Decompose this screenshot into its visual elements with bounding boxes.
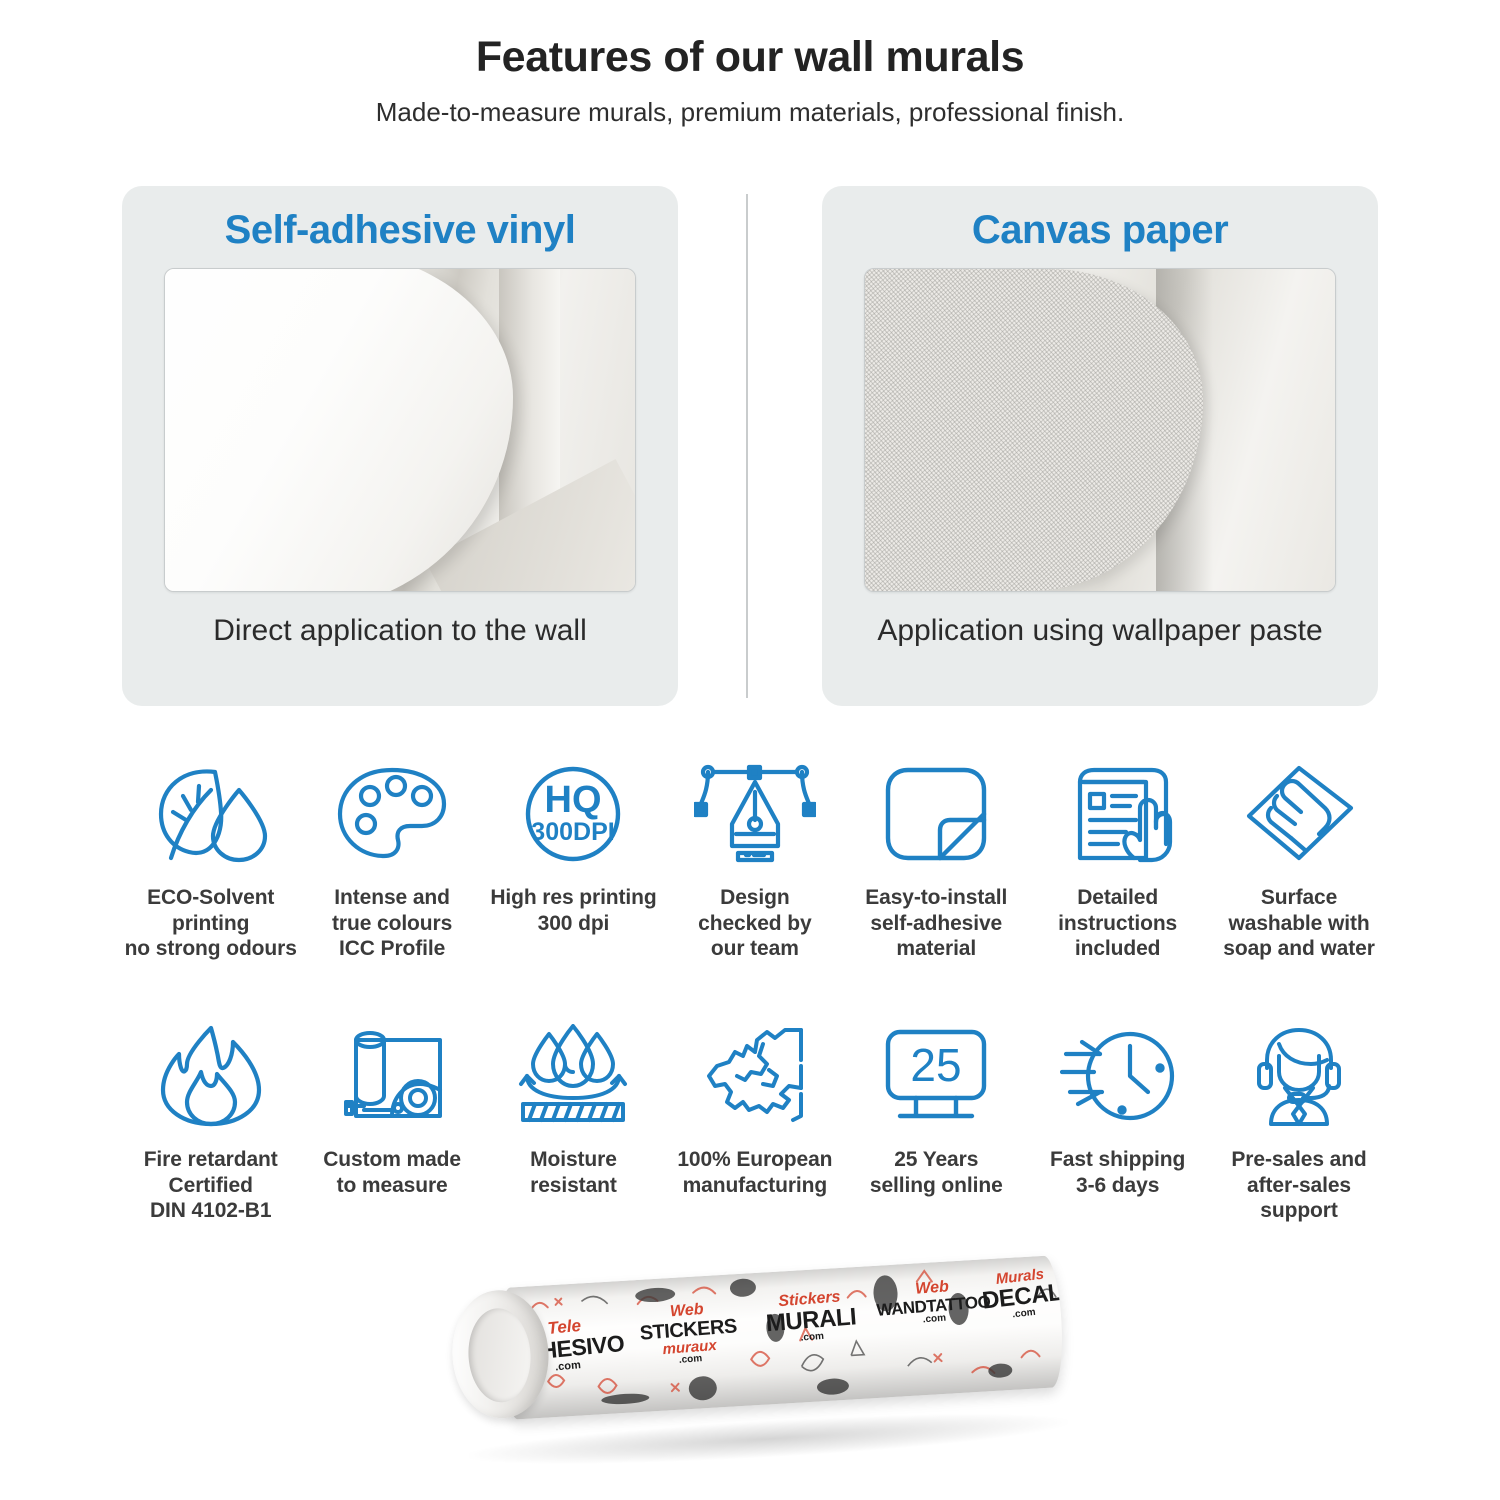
tube-graphic: Tele ADHESIVO .com Web STICKERS muraux .… xyxy=(449,1255,1066,1423)
panel-caption-canvas: Application using wallpaper paste xyxy=(877,612,1322,650)
panel-divider xyxy=(746,194,748,698)
flame-icon xyxy=(153,1017,269,1135)
brand-webstickersmuraux: Web STICKERS muraux .com xyxy=(625,1298,751,1369)
feature-25-years: 25 25 Years selling online xyxy=(846,1017,1027,1198)
brand-muralsdecal: Murals DECAL .com xyxy=(971,1264,1065,1324)
feature-easy-install: Easy-to-install self-adhesive material xyxy=(846,755,1027,962)
features-infographic-page: Features of our wall murals Made-to-meas… xyxy=(0,0,1500,1500)
hq-text: HQ xyxy=(545,779,602,821)
feature-moisture-resistant: Moisture resistant xyxy=(483,1017,664,1198)
monitor-25-icon: 25 xyxy=(878,1017,994,1135)
feature-label: Detailed instructions included xyxy=(1058,885,1177,962)
panel-canvas-paper: Canvas paper Application using wallpaper… xyxy=(822,186,1378,706)
feature-custom-made: Custom made to measure xyxy=(301,1017,482,1198)
feature-grid: ECO-Solvent printing no strong odours In… xyxy=(120,755,1390,1224)
roll-tape-measure-icon xyxy=(334,1017,450,1135)
panel-self-adhesive-vinyl: Self-adhesive vinyl Direct application t… xyxy=(122,186,678,706)
feature-washable: Surface washable with soap and water xyxy=(1208,755,1389,962)
feature-label: 25 Years selling online xyxy=(870,1147,1003,1198)
canvas-paper-photo xyxy=(864,268,1336,592)
europe-map-icon xyxy=(697,1017,813,1135)
feature-eco-solvent: ECO-Solvent printing no strong odours xyxy=(120,755,301,962)
paint-palette-icon xyxy=(334,755,450,873)
feature-label: ECO-Solvent printing no strong odours xyxy=(125,885,297,962)
page-header: Features of our wall murals Made-to-meas… xyxy=(0,0,1500,128)
feature-fire-retardant: Fire retardant Certified DIN 4102-B1 xyxy=(120,1017,301,1224)
years-number: 25 xyxy=(911,1039,962,1091)
feature-label: Custom made to measure xyxy=(323,1147,461,1198)
feature-label: Fast shipping 3-6 days xyxy=(1050,1147,1185,1198)
tube-body: Tele ADHESIVO .com Web STICKERS muraux .… xyxy=(497,1255,1066,1420)
hq-300dpi-badge-icon: HQ 300DPI xyxy=(515,755,631,873)
page-title: Features of our wall murals xyxy=(0,34,1500,81)
feature-label: Moisture resistant xyxy=(530,1147,617,1198)
peeling-sticker-icon xyxy=(878,755,994,873)
moisture-resistant-droplets-icon xyxy=(515,1017,631,1135)
feature-intense-colours: Intense and true colours ICC Profile xyxy=(301,755,482,962)
page-subtitle: Made-to-measure murals, premium material… xyxy=(0,97,1500,128)
feature-label: Design checked by our team xyxy=(698,885,811,962)
feature-european-manufacturing: 100% European manufacturing xyxy=(664,1017,845,1198)
fast-clock-icon xyxy=(1060,1017,1176,1135)
panel-title-vinyl: Self-adhesive vinyl xyxy=(225,208,576,252)
canvas-weave-surface xyxy=(865,269,1203,591)
tube-cap-inner xyxy=(466,1307,533,1405)
product-shipping-tube: Tele ADHESIVO .com Web STICKERS muraux .… xyxy=(430,1245,1090,1495)
headset-support-agent-icon xyxy=(1241,1017,1357,1135)
brand-stickersmurali: Stickers MURALI .com xyxy=(749,1287,873,1347)
feature-label: Surface washable with soap and water xyxy=(1223,885,1374,962)
feature-label: Intense and true colours ICC Profile xyxy=(332,885,452,962)
feature-instructions: Detailed instructions included xyxy=(1027,755,1208,962)
canvas-photo-texture xyxy=(865,269,1335,591)
hand-wiping-cloth-icon xyxy=(1241,755,1357,873)
vinyl-roll-photo xyxy=(164,268,636,592)
feature-row-2: Fire retardant Certified DIN 4102-B1 xyxy=(120,1017,1390,1224)
feature-label: High res printing 300 dpi xyxy=(490,885,656,936)
feature-label: 100% European manufacturing xyxy=(677,1147,832,1198)
feature-row-1: ECO-Solvent printing no strong odours In… xyxy=(120,755,1390,985)
feature-high-res: HQ 300DPI High res printing 300 dpi xyxy=(483,755,664,936)
eco-leaf-droplet-icon xyxy=(153,755,269,873)
vinyl-photo-texture xyxy=(165,269,635,591)
material-comparison-section: Self-adhesive vinyl Direct application t… xyxy=(0,186,1500,710)
feature-design-checked: Design checked by our team xyxy=(664,755,845,962)
feature-support: Pre-sales and after-sales support xyxy=(1208,1017,1389,1224)
feature-label: Pre-sales and after-sales support xyxy=(1231,1147,1366,1224)
feature-label: Easy-to-install self-adhesive material xyxy=(865,885,1007,962)
panel-title-canvas: Canvas paper xyxy=(972,208,1228,252)
panel-caption-vinyl: Direct application to the wall xyxy=(213,612,587,650)
instructions-document-hand-icon xyxy=(1060,755,1176,873)
feature-label: Fire retardant Certified DIN 4102-B1 xyxy=(144,1147,278,1224)
feature-fast-shipping: Fast shipping 3-6 days xyxy=(1027,1017,1208,1198)
dpi-text: 300DPI xyxy=(532,818,615,846)
pen-tool-bezier-icon xyxy=(694,755,816,873)
